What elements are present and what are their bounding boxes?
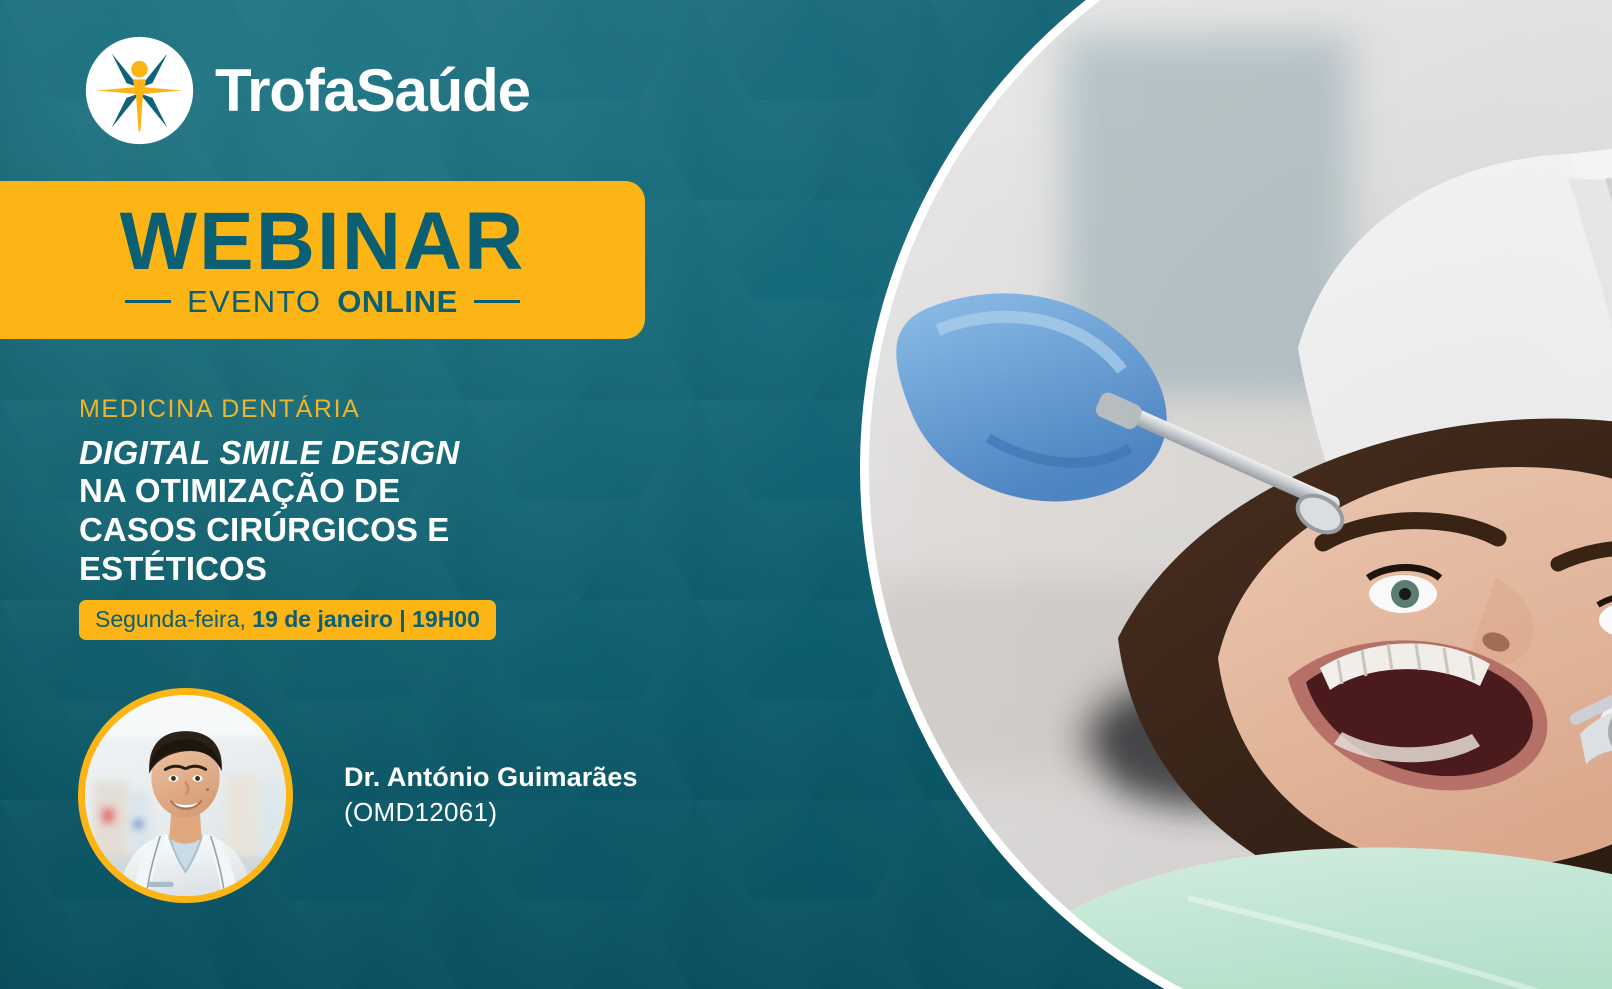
banner-subtitle: EVENTO ONLINE xyxy=(125,286,520,317)
trofasaude-starburst-figure-icon xyxy=(84,35,195,146)
session-title-line-4: ESTÉTICOS xyxy=(79,550,267,587)
avatar xyxy=(78,688,293,903)
session-date-time: 19 de janeiro | 19H00 xyxy=(252,606,480,632)
banner-title: WEBINAR xyxy=(120,203,526,282)
webinar-banner: WEBINAR EVENTO ONLINE xyxy=(0,181,645,339)
session-date-weekday: Segunda-feira, xyxy=(95,606,246,632)
brand-wordmark: TrofaSaúde xyxy=(215,61,530,121)
speaker-details: Dr. António Guimarães (OMD12061) xyxy=(344,761,638,831)
banner-subtitle-evento: EVENTO xyxy=(187,286,321,317)
speaker-registration: (OMD12061) xyxy=(344,796,638,830)
hero-photo xyxy=(868,0,1612,989)
banner-subtitle-online: ONLINE xyxy=(337,286,458,317)
session-date-badge: Segunda-feira, 19 de janeiro | 19H00 xyxy=(79,600,496,640)
session-specialty: MEDICINA DENTÁRIA xyxy=(79,396,599,424)
session-title-block: MEDICINA DENTÁRIA DIGITAL SMILE DESIGN N… xyxy=(79,396,599,589)
banner-rule-left xyxy=(125,300,171,303)
session-headline: DIGITAL SMILE DESIGN NA OTIMIZAÇÃO DE CA… xyxy=(79,434,599,590)
webinar-poster: TrofaSaúde WEBINAR EVENTO ONLINE MEDICIN… xyxy=(0,0,1612,989)
session-title-line-2: NA OTIMIZAÇÃO DE xyxy=(79,472,400,509)
speaker-block: Dr. António Guimarães (OMD12061) xyxy=(78,688,638,903)
banner-rule-right xyxy=(474,300,520,303)
session-title-line-3: CASOS CIRÚRGICOS E xyxy=(79,511,449,548)
speaker-portrait xyxy=(85,695,286,896)
brand-lockup: TrofaSaúde xyxy=(84,35,530,146)
speaker-name: Dr. António Guimarães xyxy=(344,761,638,795)
dental-treatment-photo xyxy=(868,0,1612,989)
session-title-line-1: DIGITAL SMILE DESIGN xyxy=(79,434,599,473)
